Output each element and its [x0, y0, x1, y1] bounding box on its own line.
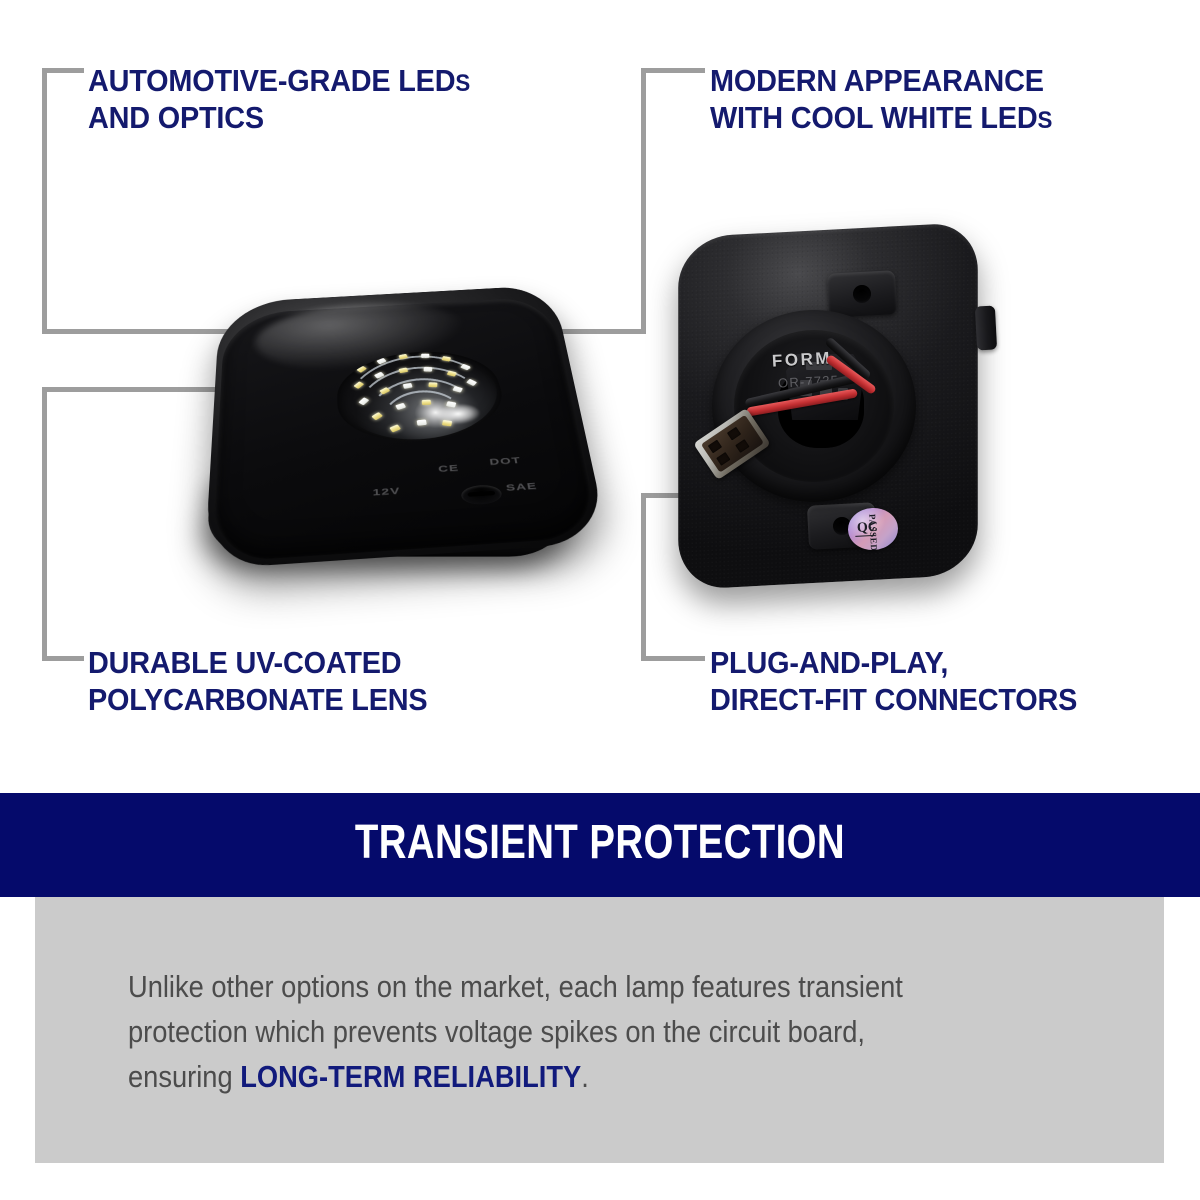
connector-pin [735, 439, 749, 453]
mounting-boss-top [827, 270, 897, 317]
led-chip [428, 382, 437, 387]
leader-line-top-left-horizontal-top [42, 68, 84, 73]
connector-pin [708, 440, 722, 454]
mounting-side-tab [975, 306, 997, 351]
led-chip [422, 400, 431, 405]
molded-marking-12v: 12V [372, 485, 400, 497]
description-panel: Unlike other options on the market, each… [35, 897, 1164, 1163]
led-chip [424, 367, 433, 372]
led-chip [452, 386, 463, 393]
leader-line-bottom-left-vertical [42, 387, 47, 661]
brand-logo-form: FORM [772, 348, 833, 371]
section-banner: TRANSIENT PROTECTION [0, 793, 1200, 897]
leader-line-top-left-vertical [42, 68, 47, 334]
lamp-back-bezel [712, 310, 916, 502]
qc-sticker-passed-text: PASSED [867, 514, 879, 552]
leader-line-bottom-left-horizontal-bottom [42, 656, 84, 661]
product-image-lamp-front-view: 12V CE DOT SAE [196, 252, 600, 582]
led-chip [441, 356, 451, 362]
lamp-housing: 12V CE DOT SAE [204, 285, 609, 570]
led-chip [398, 354, 408, 360]
led-chip [403, 383, 413, 389]
led-chip [379, 387, 390, 395]
led-chip [356, 366, 367, 373]
connector-pin [727, 427, 741, 441]
led-chip [421, 354, 429, 358]
led-chip [395, 403, 406, 410]
led-chip [466, 379, 477, 386]
led-chip [376, 358, 386, 365]
led-chip [447, 370, 457, 376]
callout-label-automotive-grade-leds: AUTOMOTIVE-GRADE LEDsAND OPTICS [88, 62, 470, 136]
led-chip [417, 419, 427, 425]
callout-label-plug-and-play-connectors: PLUG-AND-PLAY,DIRECT-FIT CONNECTORS [710, 644, 1077, 718]
led-chip [374, 372, 385, 379]
banner-title: TRANSIENT PROTECTION [120, 815, 1080, 870]
infographic-stage: AUTOMOTIVE-GRADE LEDsAND OPTICS MODERN A… [0, 0, 1200, 1200]
callout-label-durable-uv-coated-lens: DURABLE UV-COATEDPOLYCARBONATE LENS [88, 644, 427, 718]
molded-marking-ce: CE [438, 463, 460, 474]
leader-line-top-right-vertical [641, 68, 646, 334]
led-array [337, 346, 515, 450]
led-chip [358, 397, 369, 405]
description-text-tail: . [581, 1059, 589, 1094]
description-emphasis: LONG-TERM RELIABILITY [240, 1059, 581, 1094]
led-chip [389, 424, 401, 432]
led-chip [460, 364, 471, 371]
led-chip [353, 381, 364, 389]
description-paragraph: Unlike other options on the market, each… [128, 965, 973, 1100]
molded-marking-sae: SAE [505, 481, 538, 493]
product-image-lamp-back-view: FORM OR-7725 QC PASSED [650, 222, 1030, 594]
led-chip [371, 412, 383, 421]
leader-line-bottom-right-horizontal-bottom [641, 656, 705, 661]
connector-pin [716, 452, 730, 466]
led-chip [399, 367, 409, 373]
leader-line-bottom-right-vertical [641, 493, 646, 661]
lamp-lens-well [337, 346, 515, 450]
leader-line-top-right-horizontal-top [641, 68, 705, 73]
molded-marking-dot: DOT [489, 455, 522, 467]
callout-label-modern-appearance: MODERN APPEARANCEWITH COOL WHITE LEDs [710, 62, 1052, 136]
